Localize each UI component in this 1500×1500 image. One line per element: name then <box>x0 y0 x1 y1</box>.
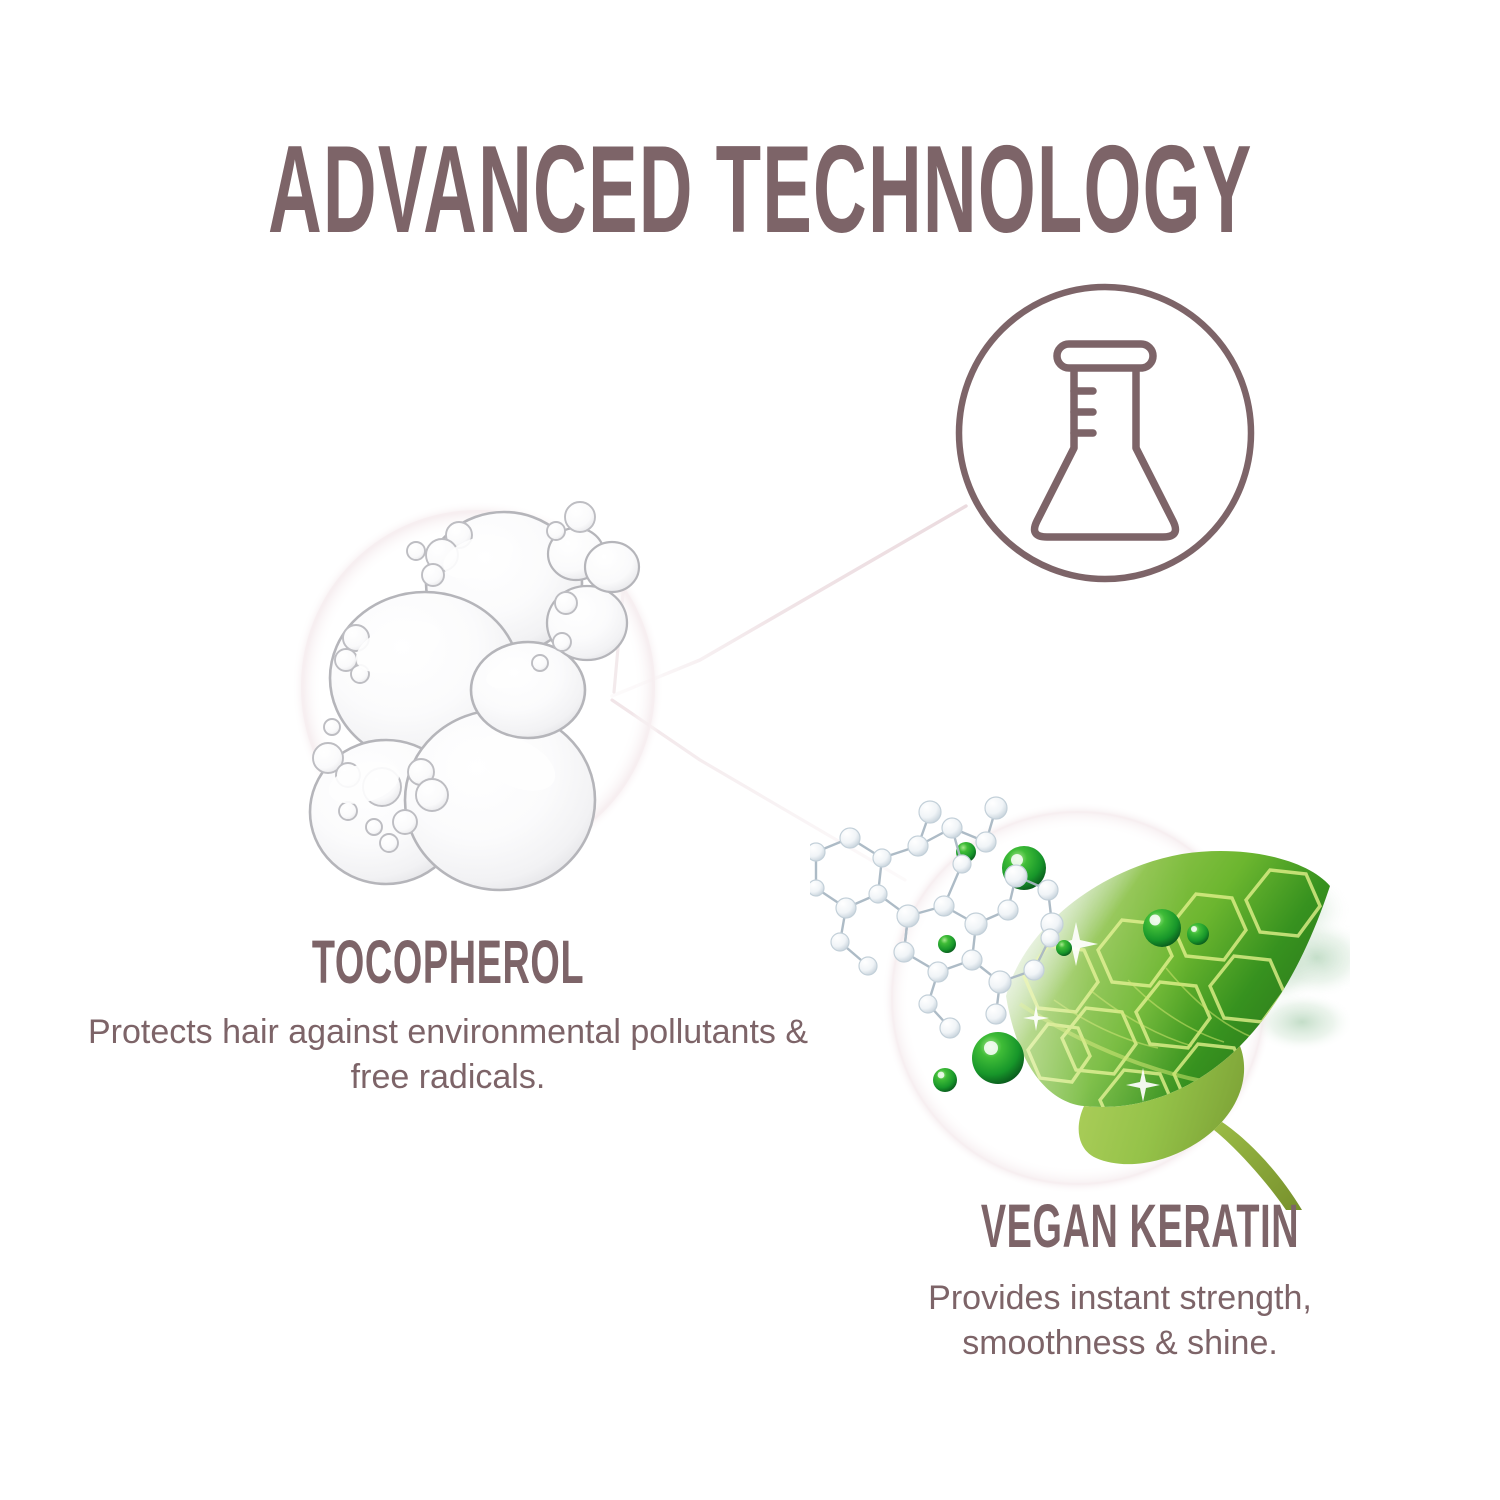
droplet <box>933 1068 957 1092</box>
ingredient-name-tocopherol: TOCOPHEROL <box>170 932 726 993</box>
bubble-medium <box>585 542 639 592</box>
lab-flask-badge <box>953 281 1257 585</box>
page-title: ADVANCED TECHNOLOGY <box>268 128 1072 252</box>
lab-flask-icon <box>1035 344 1176 537</box>
droplet <box>1143 909 1181 947</box>
droplet <box>972 1032 1024 1084</box>
droplet <box>938 935 956 953</box>
bubbles-cluster-image <box>270 475 690 895</box>
droplet <box>1187 923 1209 945</box>
ingredient-description-vegan-keratin: Provides instant strength, smoothness & … <box>836 1276 1404 1366</box>
advanced-technology-infographic: ADVANCED TECHNOLOGY <box>0 0 1500 1500</box>
green-leaf-molecule-image <box>810 790 1350 1210</box>
ingredient-description-tocopherol: Protects hair against environmental poll… <box>84 1010 812 1100</box>
ingredient-name-vegan-keratin: VEGAN KERATIN <box>830 1196 1450 1257</box>
